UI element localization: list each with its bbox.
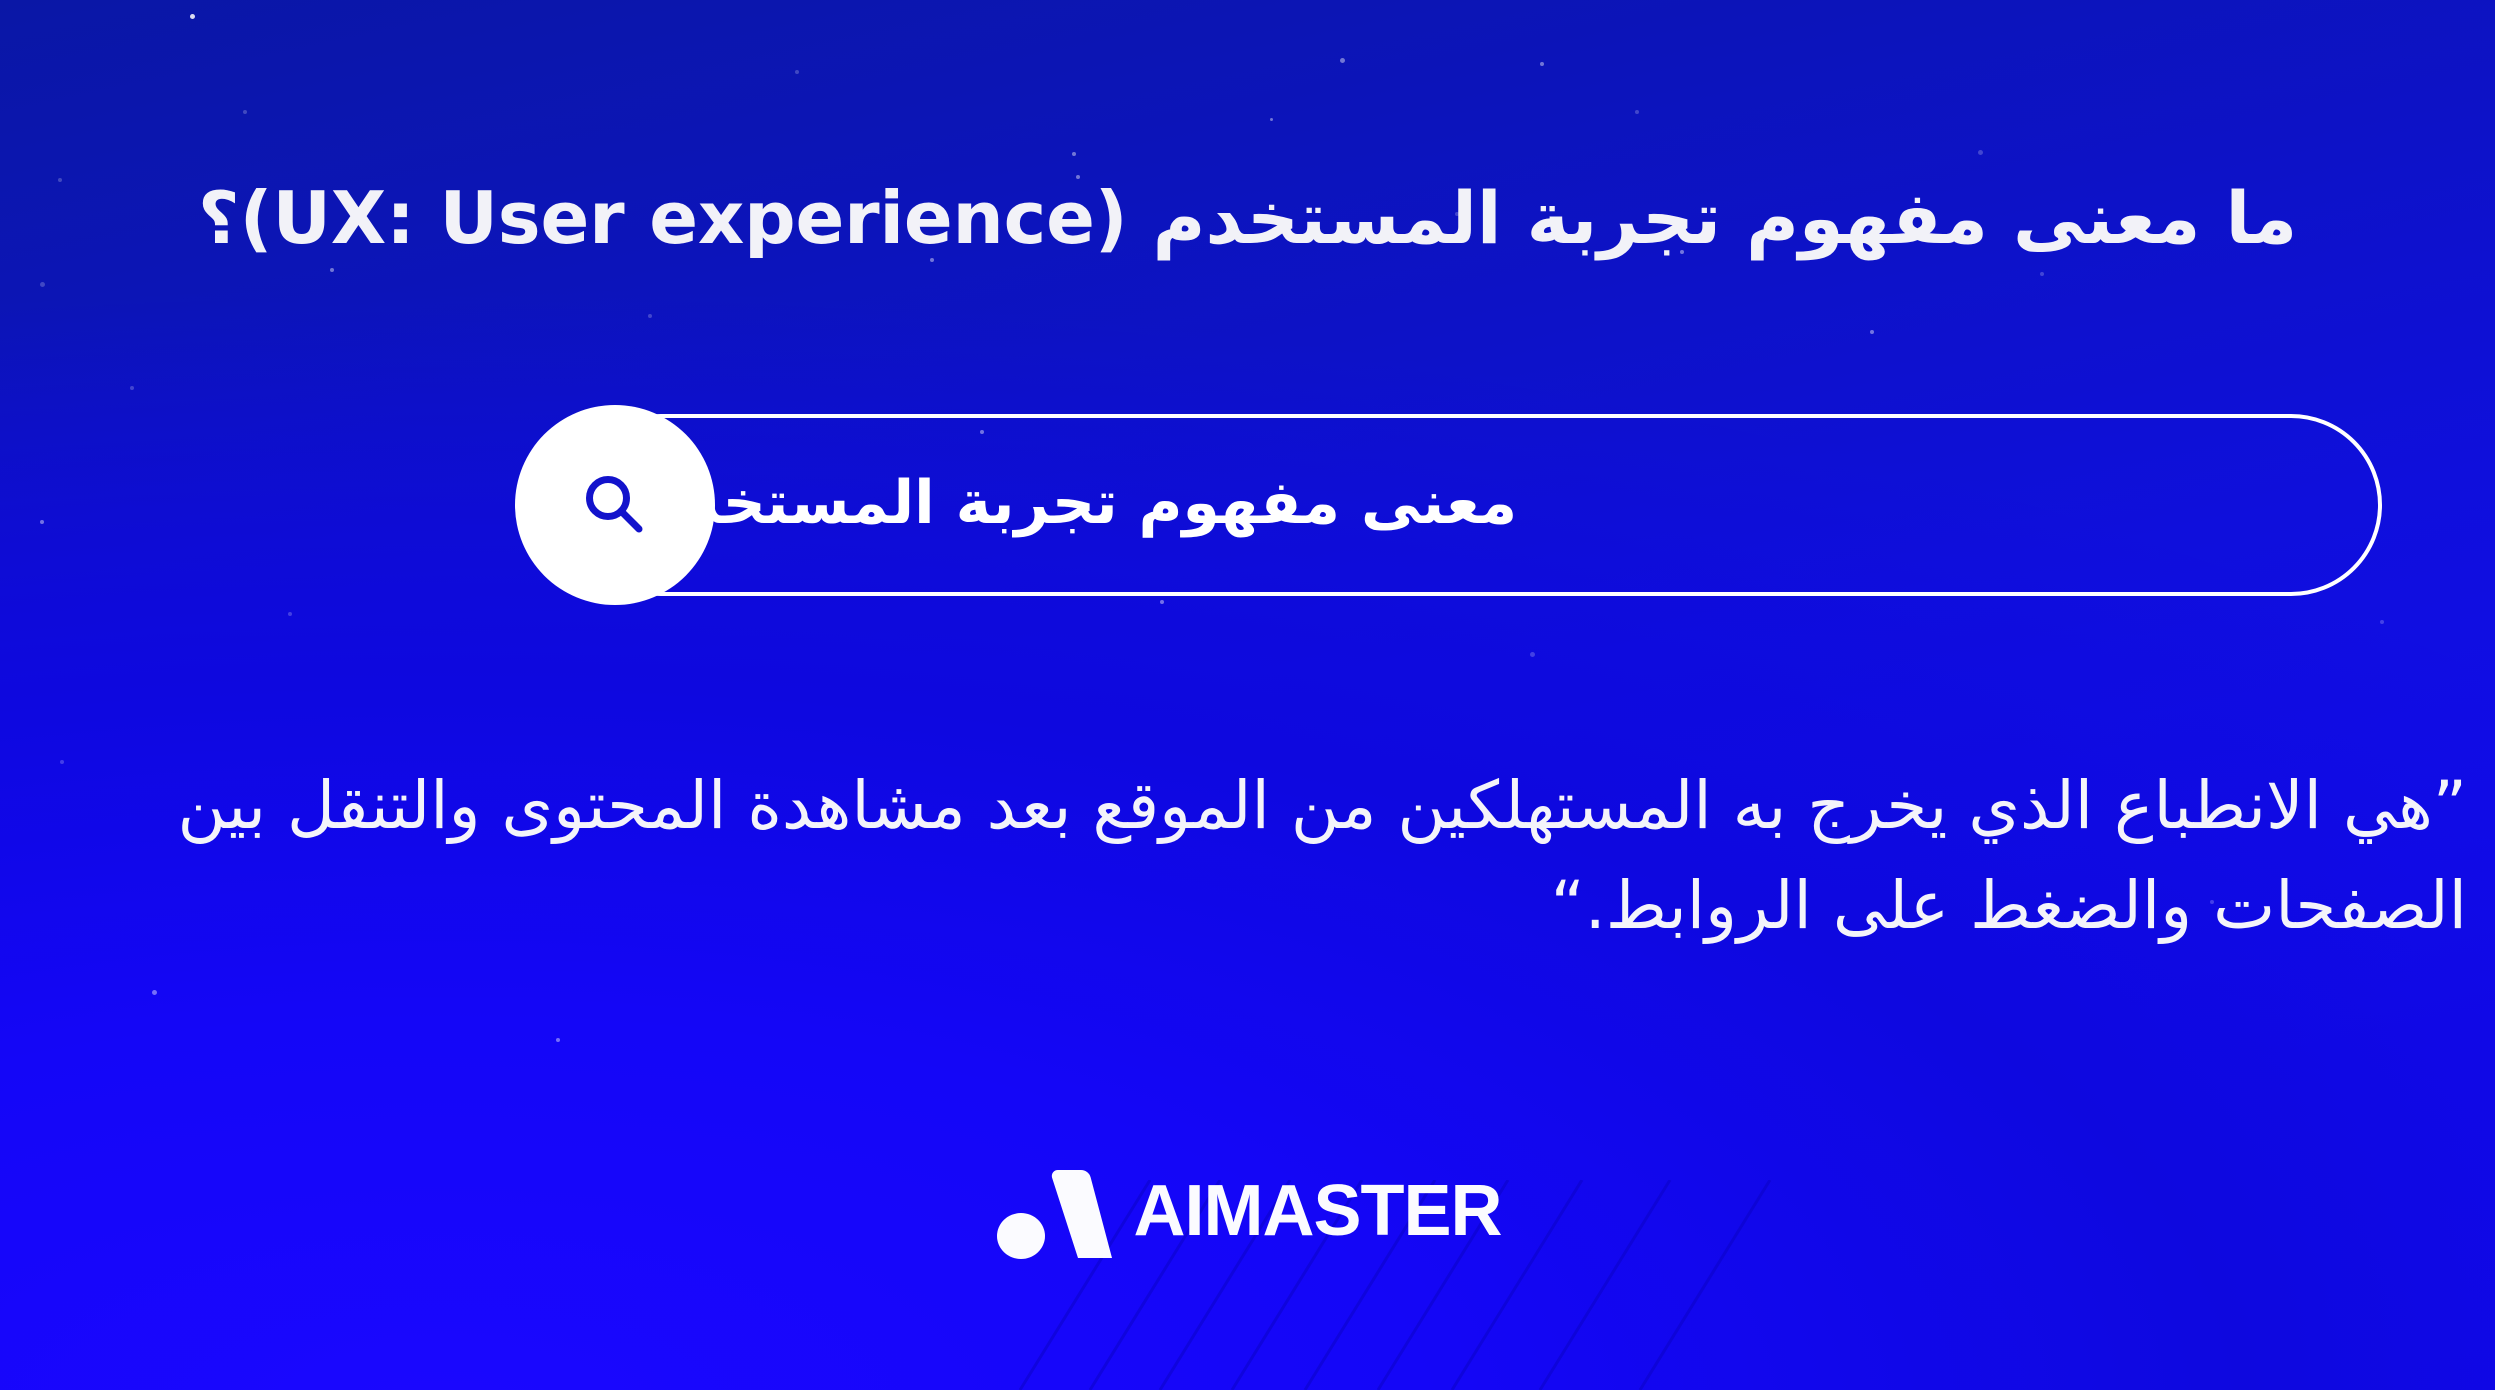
search-input[interactable]: معنى مفهوم تجربة المستخدم <box>570 414 2382 596</box>
quote-text: ”هي الانطباع الذي يخرج به المستهلكين من … <box>130 756 2467 957</box>
logo-wordmark: AIMASTER <box>1134 1175 1502 1247</box>
search-input-value: معنى مفهوم تجربة المستخدم <box>644 473 1517 533</box>
search-submit-button[interactable] <box>515 405 715 605</box>
page-title: ما معنى مفهوم تجربة المستخدم (UX: User e… <box>0 176 2495 261</box>
search-bar[interactable]: معنى مفهوم تجربة المستخدم <box>570 414 2382 596</box>
brand-logo: AIMASTER <box>0 1168 2495 1260</box>
aimaster-mark-icon <box>994 1168 1112 1260</box>
poster-canvas: ما معنى مفهوم تجربة المستخدم (UX: User e… <box>0 0 2495 1390</box>
search-icon <box>578 468 652 542</box>
